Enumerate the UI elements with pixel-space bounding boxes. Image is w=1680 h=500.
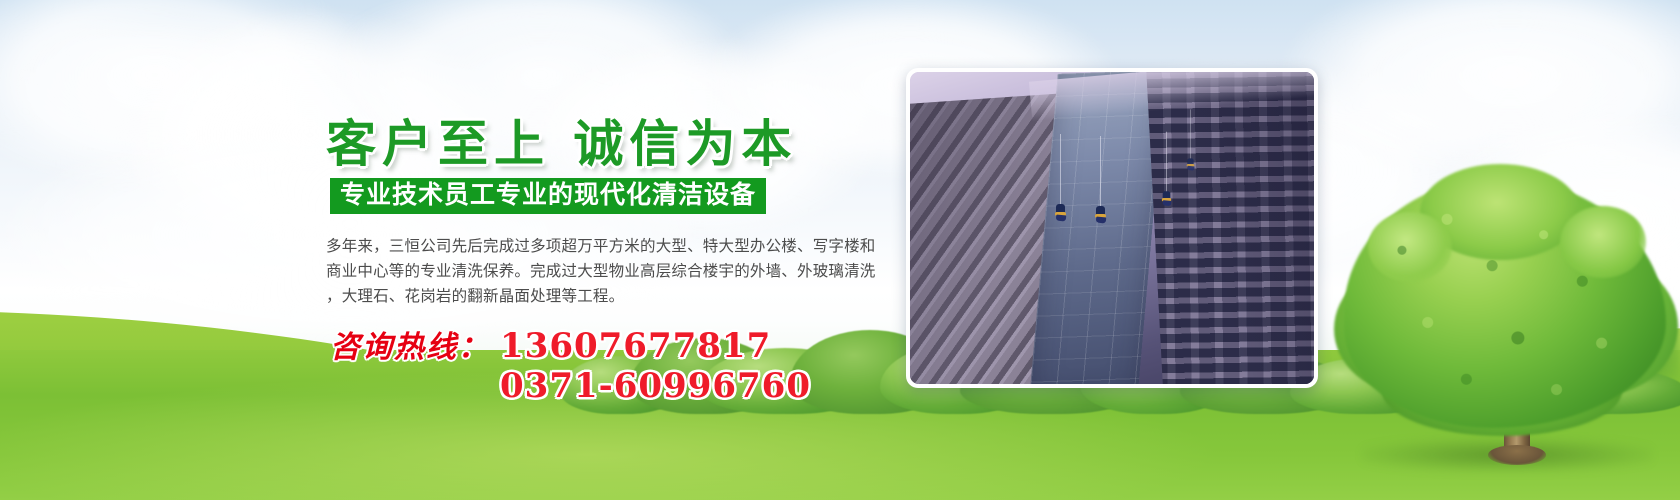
description-line: 多年来，三恒公司先后完成过多项超万平方米的大型、特大型办公楼、写字楼和 bbox=[326, 234, 886, 259]
hotline-block: 咨询热线： 13607677817 bbox=[330, 322, 771, 366]
hotline-phone-primary[interactable]: 13607677817 bbox=[500, 326, 771, 366]
hotline-label: 咨询热线： bbox=[330, 322, 490, 366]
promo-banner: 客户至上 诚信为本 专业技术员工专业的现代化清洁设备 多年来，三恒公司先后完成过… bbox=[0, 0, 1680, 500]
banner-content: 客户至上 诚信为本 专业技术员工专业的现代化清洁设备 多年来，三恒公司先后完成过… bbox=[0, 0, 1680, 500]
banner-headline: 客户至上 诚信为本 bbox=[326, 104, 797, 176]
description-line: ，大理石、花岗岩的翻新晶面处理等工程。 bbox=[326, 284, 886, 309]
banner-subtitle-bar: 专业技术员工专业的现代化清洁设备 bbox=[330, 178, 766, 214]
description-line: 商业中心等的专业清洗保养。完成过大型物业高层综合楼宇的外墙、外玻璃清洗 bbox=[326, 259, 886, 284]
banner-description: 多年来，三恒公司先后完成过多项超万平方米的大型、特大型办公楼、写字楼和 商业中心… bbox=[326, 234, 886, 309]
banner-subtitle-text: 专业技术员工专业的现代化清洁设备 bbox=[340, 182, 756, 208]
hotline-phone-secondary[interactable]: 0371-60996760 bbox=[500, 366, 811, 406]
